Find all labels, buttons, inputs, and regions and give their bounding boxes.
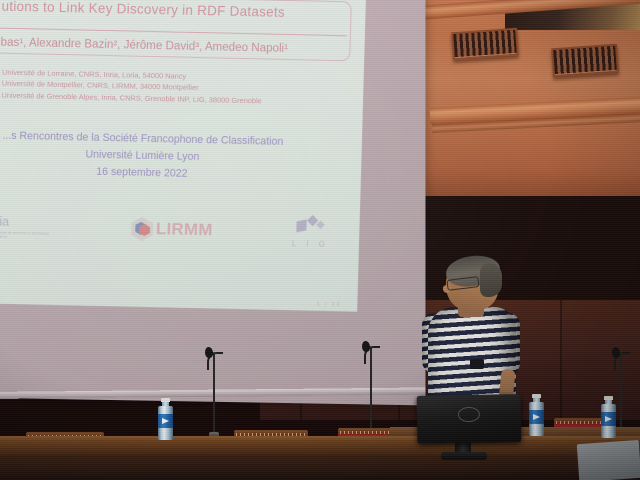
lirmm-logo: LIRMM xyxy=(131,217,213,243)
laptop[interactable] xyxy=(577,440,640,480)
ceiling-vent-grille-icon xyxy=(551,44,619,78)
chair-studs xyxy=(340,431,392,434)
loria-logo: Loria Laboratoire lorrain de recherche e… xyxy=(0,212,52,241)
bottle-label xyxy=(158,414,173,428)
dell-logo-icon xyxy=(458,407,480,422)
wood-panel-seam xyxy=(560,300,562,420)
lig-logo: L I G xyxy=(292,216,330,249)
slide-conference-info: ...s Rencontres de la Société Francophon… xyxy=(0,126,342,186)
lirmm-hexagon-icon xyxy=(131,217,154,241)
gooseneck-microphone xyxy=(364,346,380,434)
slide-page-indicator: 1 / 22 xyxy=(317,302,342,309)
bottle-label xyxy=(601,412,616,426)
desk-front-panel xyxy=(0,455,640,480)
water-bottle xyxy=(601,396,616,438)
presenter-lanyard-badge xyxy=(470,359,484,369)
mic-stem xyxy=(370,346,372,434)
dell-monitor[interactable] xyxy=(417,394,522,444)
projected-slide: ...utions to Link Key Discovery in RDF D… xyxy=(0,0,366,312)
mic-stem xyxy=(620,352,622,434)
bottle-label xyxy=(529,410,544,424)
lirmm-logo-text: LIRMM xyxy=(156,219,213,240)
slide-logo-row: Loria Laboratoire lorrain de recherche e… xyxy=(0,199,330,259)
water-bottle xyxy=(529,394,544,436)
presentation-photo-scene: ...utions to Link Key Discovery in RDF D… xyxy=(0,0,640,480)
bottle-body xyxy=(158,406,173,440)
lig-marks-icon xyxy=(297,216,326,239)
loria-logo-subtitle: Laboratoire lorrain de recherche en info… xyxy=(0,230,51,240)
gooseneck-microphone xyxy=(207,352,223,434)
loria-logo-text: Loria xyxy=(0,213,9,229)
ceiling-vent-grille-icon xyxy=(451,28,519,61)
bottle-body xyxy=(529,402,544,436)
slide-affiliations: ¹ Université de Lorraine, CNRS, Inria, L… xyxy=(0,67,350,108)
gooseneck-microphone xyxy=(614,352,630,434)
desk-rail xyxy=(0,436,640,456)
mic-stem xyxy=(213,352,215,434)
lig-logo-text: L I G xyxy=(292,239,329,249)
water-bottle xyxy=(158,398,173,440)
monitor-base xyxy=(441,452,487,460)
presenter-hair-back xyxy=(480,263,502,297)
bottle-body xyxy=(601,404,616,438)
